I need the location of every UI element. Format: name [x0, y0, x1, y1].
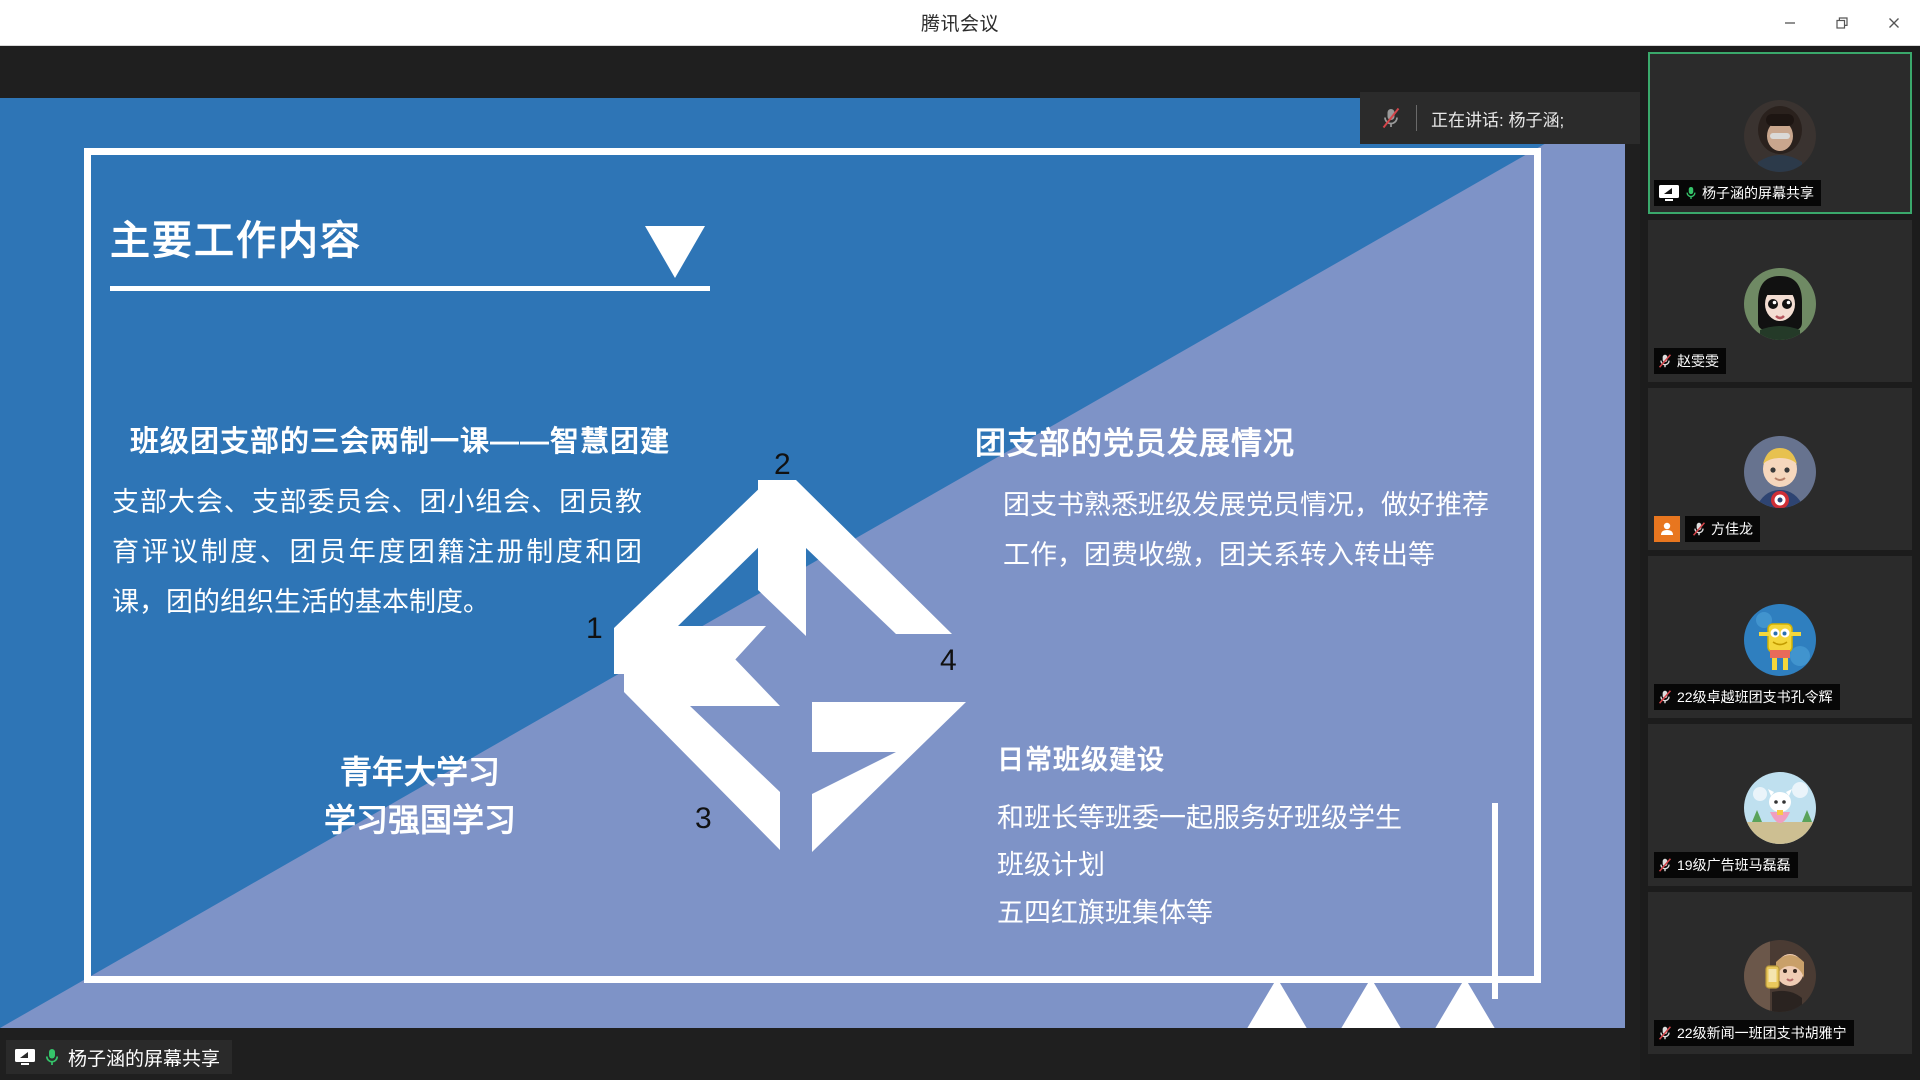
- window-controls: [1764, 0, 1920, 46]
- participant-tile[interactable]: 赵雯雯: [1648, 220, 1912, 382]
- screen-share-badge: 杨子涵的屏幕共享: [6, 1040, 232, 1074]
- active-speaker-text: 正在讲话: 杨子涵;: [1431, 106, 1564, 131]
- triangle-up-icon: [1245, 978, 1309, 1028]
- shared-screen-stage: 主要工作内容 班级团支部的三会两制一课——智慧团建 支部大会、支部委员会、团小组…: [0, 46, 1920, 1080]
- participant-tile[interactable]: 杨子涵的屏幕共享: [1648, 52, 1912, 214]
- window-titlebar: 腾讯会议: [0, 0, 1920, 46]
- slide-title-block: 主要工作内容: [110, 208, 710, 291]
- slogan-line-2: 学习强国学习: [250, 796, 590, 844]
- slide-title: 主要工作内容: [110, 208, 710, 266]
- microphone-muted-icon: [1658, 857, 1672, 873]
- microphone-muted-icon: [1658, 1025, 1672, 1041]
- participant-name: 22级新闻一班团支书胡雅宁: [1677, 1023, 1847, 1043]
- avatar: [1744, 772, 1816, 844]
- close-button[interactable]: [1868, 0, 1920, 46]
- right-bottom-line-3: 五四红旗班集体等: [997, 890, 1515, 937]
- participant-name: 19级广告班马磊磊: [1677, 855, 1791, 875]
- microphone-active-icon: [44, 1047, 60, 1067]
- right-top-body: 团支书熟悉班级发展党员情况，做好推荐工作，团费收缴，团关系转入转出等: [1003, 481, 1513, 581]
- participant-name: 22级卓越班团支书孔令辉: [1677, 687, 1833, 707]
- participant-name: 杨子涵的屏幕共享: [1702, 183, 1814, 203]
- pinwheel-number-4: 4: [940, 644, 957, 678]
- triangle-up-icon: [1433, 978, 1497, 1028]
- participant-tile[interactable]: 方佳龙: [1648, 388, 1912, 550]
- pinwheel-diagram: 1 2 3 4: [600, 466, 980, 866]
- participant-name: 赵雯雯: [1677, 351, 1719, 371]
- right-top-heading: 团支部的党员发展情况: [975, 418, 1515, 463]
- right-bottom-line-2: 班级计划: [997, 842, 1515, 889]
- participant-label: 方佳龙: [1654, 516, 1767, 542]
- presentation-slide: 主要工作内容 班级团支部的三会两制一课——智慧团建 支部大会、支部委员会、团小组…: [0, 98, 1625, 1028]
- restore-button[interactable]: [1816, 0, 1868, 46]
- screen-share-icon: [1658, 184, 1680, 202]
- right-bottom-content-block: 日常班级建设 和班长等班委一起服务好班级学生 班级计划 五四红旗班集体等: [975, 738, 1515, 937]
- avatar: [1744, 268, 1816, 340]
- microphone-muted-icon: [1658, 353, 1672, 369]
- decorative-triangles: [1245, 978, 1475, 1028]
- participant-label: 19级广告班马磊磊: [1654, 852, 1798, 878]
- participant-tile[interactable]: 22级新闻一班团支书胡雅宁: [1648, 892, 1912, 1054]
- pinwheel-number-3: 3: [695, 802, 712, 836]
- host-icon: [1654, 516, 1680, 542]
- participant-label: 赵雯雯: [1654, 348, 1726, 374]
- slogan-line-1: 青年大学习: [250, 748, 590, 796]
- avatar: [1744, 604, 1816, 676]
- microphone-muted-icon: [1658, 689, 1672, 705]
- participant-tile[interactable]: 19级广告班马磊磊: [1648, 724, 1912, 886]
- left-heading: 班级团支部的三会两制一课——智慧团建: [130, 418, 642, 460]
- slogan-block: 青年大学习 学习强国学习: [250, 748, 590, 844]
- right-bottom-heading: 日常班级建设: [997, 738, 1515, 777]
- triangle-down-icon: [645, 226, 705, 278]
- participant-name: 方佳龙: [1711, 519, 1753, 539]
- microphone-muted-icon: [1692, 521, 1706, 537]
- triangle-up-icon: [1339, 978, 1403, 1028]
- decorative-vertical-line: [1492, 803, 1498, 999]
- active-speaker-bar: 正在讲话: 杨子涵;: [1360, 92, 1660, 144]
- avatar: [1744, 100, 1816, 172]
- pinwheel-number-1: 1: [586, 612, 603, 646]
- left-body: 支部大会、支部委员会、团小组会、团员教育评议制度、团员年度团籍注册制度和团课，团…: [112, 478, 642, 628]
- left-content-block: 班级团支部的三会两制一课——智慧团建 支部大会、支部委员会、团小组会、团员教育评…: [112, 418, 642, 628]
- participant-strip[interactable]: 杨子涵的屏幕共享 赵雯雯: [1640, 46, 1920, 1080]
- screen-share-badge-text: 杨子涵的屏幕共享: [68, 1044, 220, 1071]
- avatar: [1744, 436, 1816, 508]
- microphone-muted-icon: [1380, 106, 1402, 130]
- right-bottom-body: 和班长等班委一起服务好班级学生 班级计划 五四红旗班集体等: [997, 795, 1515, 937]
- microphone-active-icon: [1685, 185, 1697, 201]
- window-title: 腾讯会议: [921, 9, 999, 36]
- minimize-button[interactable]: [1764, 0, 1816, 46]
- participant-tile[interactable]: 22级卓越班团支书孔令辉: [1648, 556, 1912, 718]
- participant-label: 22级新闻一班团支书胡雅宁: [1654, 1020, 1854, 1046]
- screen-share-icon: [14, 1048, 36, 1066]
- avatar: [1744, 940, 1816, 1012]
- right-top-content-block: 团支部的党员发展情况 团支书熟悉班级发展党员情况，做好推荐工作，团费收缴，团关系…: [975, 418, 1515, 581]
- participant-label: 杨子涵的屏幕共享: [1654, 180, 1821, 206]
- speaker-divider: [1416, 105, 1417, 131]
- pinwheel-graphic: [600, 466, 980, 866]
- pinwheel-number-2: 2: [774, 448, 791, 482]
- slide-title-underline: [110, 286, 710, 291]
- participant-label: 22级卓越班团支书孔令辉: [1654, 684, 1840, 710]
- right-bottom-line-1: 和班长等班委一起服务好班级学生: [997, 795, 1515, 842]
